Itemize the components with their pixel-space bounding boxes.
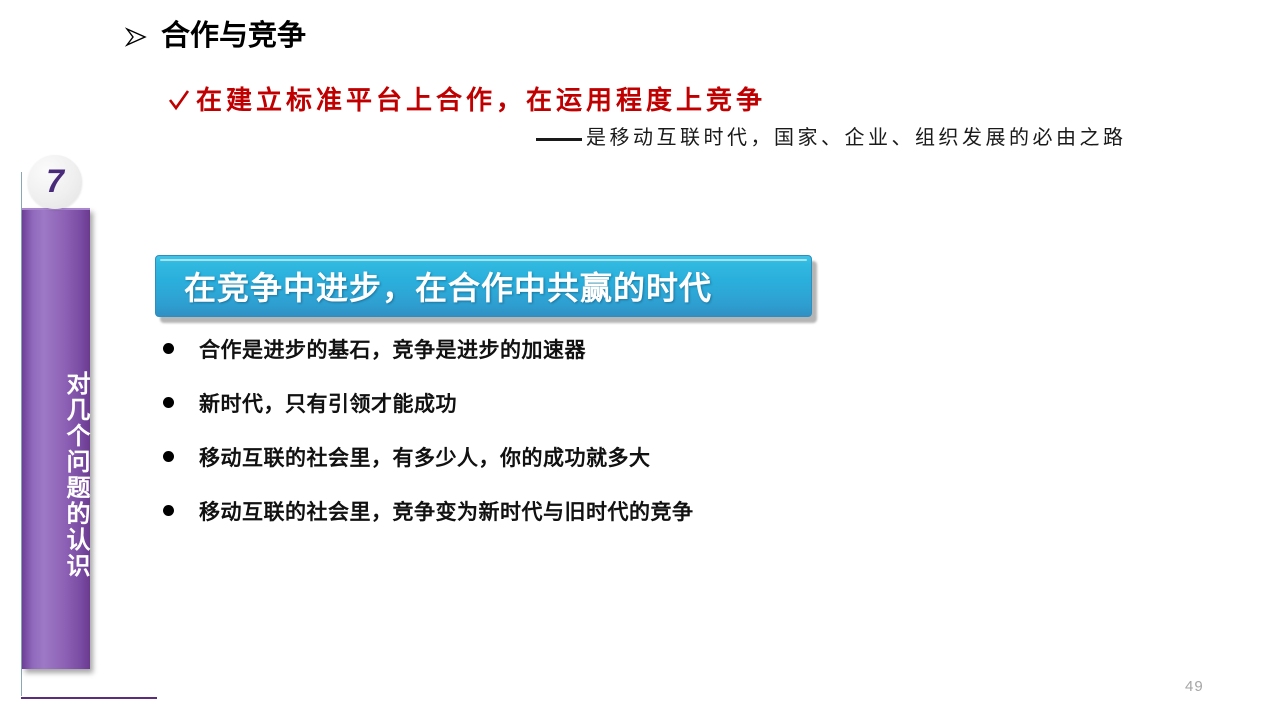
check-mark-icon [168, 88, 190, 112]
list-item: 新时代，只有引领才能成功 [163, 394, 1023, 448]
arrow-right-outline-icon [124, 25, 148, 49]
list-item: 移动互联的社会里，有多少人，你的成功就多大 [163, 448, 1023, 502]
section-number: 7 [46, 165, 64, 197]
filled-circle-icon [163, 451, 174, 462]
headline-banner: 在竞争中进步，在合作中共赢的时代 [155, 255, 812, 317]
list-item-label: 移动互联的社会里，有多少人，你的成功就多大 [199, 448, 651, 469]
page-number: 49 [1185, 678, 1204, 695]
list-item: 移动互联的社会里，竞争变为新时代与旧时代的竞争 [163, 502, 1023, 556]
attribution-text: 是移动互联时代，国家、企业、组织发展的必由之路 [586, 128, 1127, 148]
headline-banner-wrap: 在竞争中进步，在合作中共赢的时代 [155, 255, 812, 317]
filled-circle-icon [163, 343, 174, 354]
attribution-row: 是移动互联时代，国家、企业、组织发展的必由之路 [536, 128, 1127, 148]
filled-circle-icon [163, 397, 174, 408]
section-number-badge: 7 [28, 155, 82, 209]
slide-heading: 合作与竞争 [124, 22, 306, 51]
list-item: 合作是进步的基石，竞争是进步的加速器 [163, 340, 1023, 394]
section-sidebar: 对几个问题的认识 [22, 208, 90, 669]
subtitle-text: 在建立标准平台上合作，在运用程度上竞争 [196, 87, 766, 113]
slide-canvas: 合作与竞争 在建立标准平台上合作，在运用程度上竞争 是移动互联时代，国家、企业、… [0, 0, 1280, 720]
list-item-label: 新时代，只有引领才能成功 [199, 394, 457, 415]
page-title: 合作与竞争 [161, 22, 306, 51]
sidebar-baseline-rule [21, 697, 157, 699]
sidebar-label: 对几个问题的认识 [22, 325, 90, 625]
subtitle-row: 在建立标准平台上合作，在运用程度上竞争 [168, 87, 766, 113]
headline-banner-text: 在竞争中进步，在合作中共赢的时代 [156, 263, 712, 309]
list-item-label: 合作是进步的基石，竞争是进步的加速器 [199, 340, 586, 361]
list-item-label: 移动互联的社会里，竞争变为新时代与旧时代的竞争 [199, 502, 694, 523]
bullet-list: 合作是进步的基石，竞争是进步的加速器 新时代，只有引领才能成功 移动互联的社会里… [163, 340, 1023, 556]
filled-circle-icon [163, 505, 174, 516]
em-dash-rule [536, 138, 582, 141]
